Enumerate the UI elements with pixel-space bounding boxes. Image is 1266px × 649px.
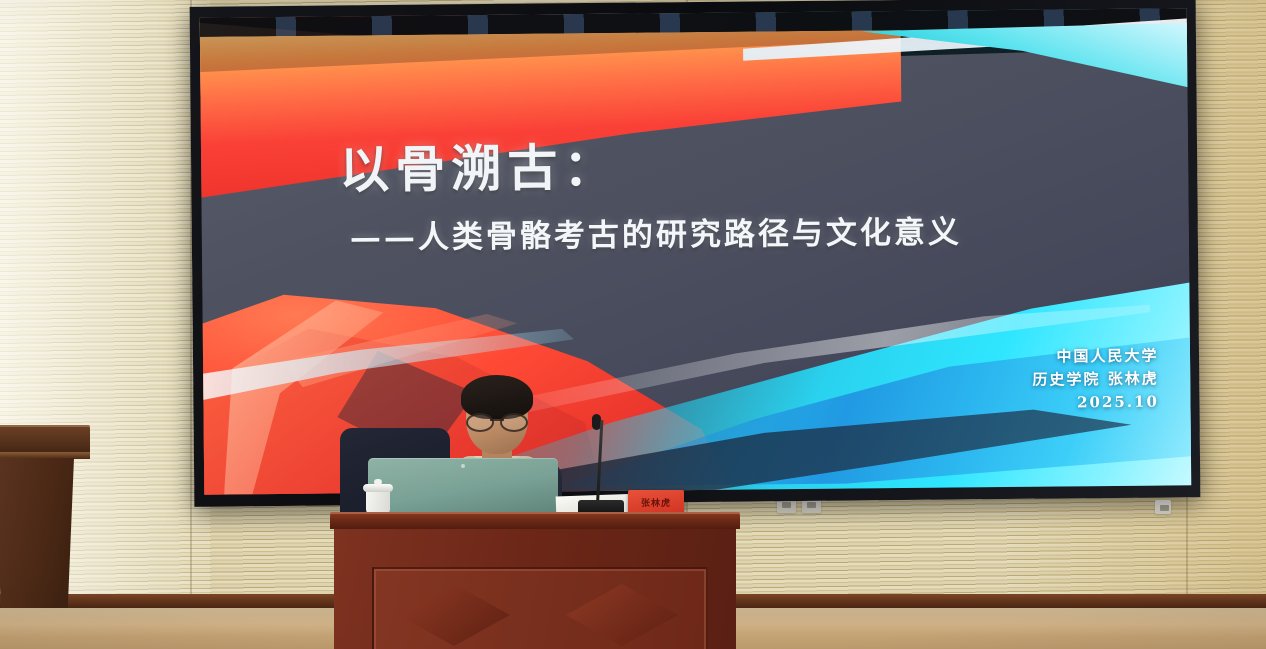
slide-title: 以骨溯古：: [339, 128, 620, 203]
credit-institution: 中国人民大学: [1032, 344, 1158, 368]
wall-plate-far-right: [1155, 500, 1171, 514]
glasses-lens-left: [466, 413, 494, 432]
outlet-slot-icon: [807, 502, 816, 508]
nameplate-text: 张林虎: [641, 496, 671, 509]
desk-nameplate: 张林虎: [628, 490, 684, 514]
desk-front-panel: [334, 529, 736, 649]
lectern-top-edge: [0, 452, 90, 459]
lectern-body: [0, 458, 74, 608]
screen-display-area[interactable]: 以骨溯古： ——人类骨骼考古的研究路径与文化意义 中国人民大学 历史学院 张林虎…: [200, 8, 1192, 494]
slide-subtitle: ——人类骨骼考古的研究路径与文化意义: [350, 206, 962, 257]
slide-credits: 中国人民大学 历史学院 张林虎 2025.10: [1032, 344, 1159, 415]
presenter-glasses-icon: [466, 413, 528, 428]
glasses-bridge: [490, 419, 504, 421]
outlet-slot-icon: [1160, 505, 1169, 511]
credit-department-speaker: 历史学院 张林虎: [1032, 368, 1158, 392]
open-laptop: [368, 458, 558, 514]
desk-top-edge: [330, 512, 740, 529]
desk-inset-frame: [372, 567, 708, 649]
presenter-desk: [330, 512, 740, 649]
teacup-lid-knob: [374, 479, 382, 485]
teacup-lid: [363, 484, 393, 492]
led-video-wall[interactable]: 以骨溯古： ——人类骨骼考古的研究路径与文化意义 中国人民大学 历史学院 张林虎…: [190, 0, 1201, 507]
desk-diamond-inlay-right: [566, 584, 678, 646]
outlet-slot-icon: [782, 502, 791, 508]
laptop-logo-icon: [461, 464, 465, 468]
desk-diamond-inlay-left: [398, 584, 510, 646]
credit-date: 2025.10: [1033, 391, 1159, 415]
lecture-hall-photo: 以骨溯古： ——人类骨骼考古的研究路径与文化意义 中国人民大学 历史学院 张林虎…: [0, 0, 1266, 649]
wooden-lectern: [0, 425, 90, 608]
glasses-lens-right: [500, 413, 528, 432]
